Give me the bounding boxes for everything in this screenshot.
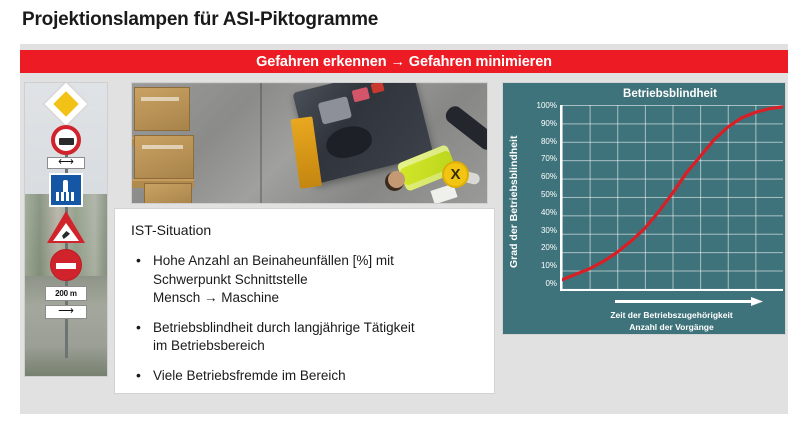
floor-seam bbox=[260, 83, 262, 203]
forklift-part bbox=[352, 87, 370, 103]
list-item: Viele Betriebsfremde im Bereich bbox=[131, 367, 480, 386]
chart-plot-area bbox=[560, 105, 783, 291]
chart-y-ticks: 100% 90% 80% 70% 60% 50% 40% 30% 20% 10%… bbox=[521, 105, 557, 291]
x-axis-label-primary: Zeit der Betriebszugehörigkeit bbox=[560, 309, 783, 321]
traffic-sign-post-photo: 200 m bbox=[24, 82, 108, 377]
y-tick-label: 70% bbox=[541, 155, 557, 163]
no-entry-sign-icon bbox=[50, 249, 82, 281]
box-label bbox=[142, 145, 183, 149]
roadworks-sign-icon bbox=[47, 211, 85, 243]
right-arrow-plate-icon bbox=[45, 305, 87, 319]
distance-plate-label: 200 m bbox=[55, 289, 77, 298]
pedestrian-crossing-sign-icon bbox=[49, 173, 83, 207]
y-tick-label: 30% bbox=[541, 227, 557, 235]
headline-banner: Gefahren erkennen → Gefahren minimieren bbox=[20, 50, 788, 73]
chart-title: Betriebsblindheit bbox=[503, 88, 785, 100]
y-tick-label: 40% bbox=[541, 209, 557, 217]
ist-situation-panel: IST-Situation Hohe Anzahl an Beinaheunfä… bbox=[114, 208, 495, 394]
y-tick-label: 80% bbox=[541, 138, 557, 146]
list-item: Hohe Anzahl an Beinaheunfällen [%] mit S… bbox=[131, 252, 480, 308]
no-trucks-sign-icon bbox=[51, 125, 81, 155]
chart-curve bbox=[562, 105, 783, 289]
bullet-list: Hohe Anzahl an Beinaheunfällen [%] mit S… bbox=[131, 252, 480, 385]
y-tick-label: 60% bbox=[541, 173, 557, 181]
x-axis-label-secondary: Anzahl der Vorgänge bbox=[560, 321, 783, 333]
y-tick-label: 20% bbox=[541, 244, 557, 252]
page-title: Projektionslampen für ASI-Piktogramme bbox=[22, 9, 378, 31]
y-tick-label: 50% bbox=[541, 191, 557, 199]
betriebsblindheit-chart: Betriebsblindheit Grad der Betriebsblind… bbox=[502, 82, 786, 335]
forklift-seat bbox=[318, 96, 352, 125]
chart-x-axis-labels: Zeit der Betriebszugehörigkeit Anzahl de… bbox=[560, 309, 783, 333]
chart-y-axis-label: Grad der Betriebsblindheit bbox=[506, 107, 522, 297]
y-tick-label: 90% bbox=[541, 120, 557, 128]
cardboard-box bbox=[134, 87, 190, 131]
banner-text: Gefahren erkennen → Gefahren minimieren bbox=[256, 54, 552, 70]
y-tick-label: 10% bbox=[541, 262, 557, 270]
warehouse-forklift-accident-photo: X bbox=[131, 82, 488, 204]
priority-road-sign-icon bbox=[42, 82, 90, 128]
forklift-part bbox=[371, 82, 385, 94]
y-tick-label: 0% bbox=[545, 280, 557, 288]
cardboard-box bbox=[134, 135, 194, 179]
floor-x-marker-icon: X bbox=[442, 161, 469, 188]
list-item: Betriebsblindheit durch langjährige Täti… bbox=[131, 319, 480, 356]
cardboard-box bbox=[144, 183, 192, 204]
y-tick-label: 100% bbox=[537, 102, 557, 110]
double-arrow-plate-icon bbox=[47, 157, 85, 169]
forklift-wheel bbox=[323, 122, 375, 162]
panel-heading: IST-Situation bbox=[131, 222, 480, 238]
x-axis-arrow-icon bbox=[615, 297, 763, 306]
person-head bbox=[388, 171, 405, 188]
box-label bbox=[141, 97, 179, 101]
distance-plate: 200 m bbox=[45, 286, 87, 301]
